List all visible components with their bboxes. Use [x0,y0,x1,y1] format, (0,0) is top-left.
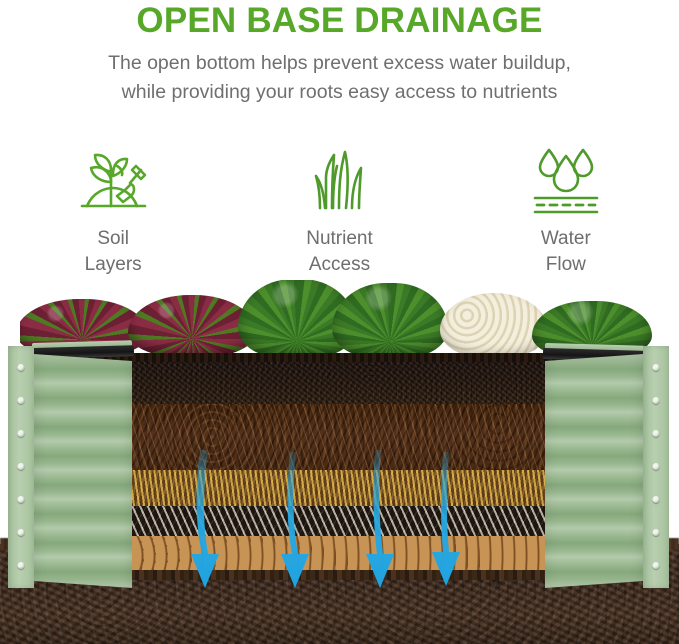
screw-icon [18,496,25,503]
screw-icon [653,430,660,437]
page-title: OPEN BASE DRAINAGE [0,0,679,40]
screw-icon [18,364,25,371]
feature-nutrient-access: Nutrient Access [226,136,452,278]
screw-icon [653,562,660,569]
vegetable-cauliflower [440,293,548,357]
screw-icon [18,430,25,437]
screw-icon [18,463,25,470]
screw-icon [18,529,25,536]
feature-label-nutrient-access: Nutrient Access [306,226,373,278]
grass-blades-icon [299,136,379,214]
feature-label-line-2: Layers [85,252,142,278]
infographic-page: OPEN BASE DRAINAGE The open bottom helps… [0,0,679,644]
vegetable-green-cabbage [332,283,448,357]
feature-label-line-1: Soil [97,228,129,249]
screw-icon [653,463,660,470]
feature-soil-layers: Soil Layers [0,136,226,278]
corner-post-left [8,346,34,588]
vegetable-red-leaf-lettuce [128,295,256,357]
feature-water-flow: Water Flow [453,136,679,278]
feature-label-water-flow: Water Flow [541,226,591,278]
header: OPEN BASE DRAINAGE The open bottom helps… [0,0,679,107]
subtitle-line-1: The open bottom helps prevent excess wat… [108,52,571,74]
feature-label-soil-layers: Soil Layers [85,226,142,278]
feature-label-line-2: Access [306,252,373,278]
screw-icon [653,529,660,536]
bed-panel-left [8,346,132,588]
screw-icon [653,364,660,371]
sprout-shovel-icon [73,136,153,214]
screw-icon [18,397,25,404]
corrugated-panel-left [34,354,132,588]
screw-icon [653,496,660,503]
feature-list: Soil Layers Nutrient Access [0,136,679,278]
screw-icon [18,562,25,569]
subtitle-line-2: while providing your roots easy access t… [40,78,640,107]
feature-label-line-2: Flow [541,252,591,278]
page-subtitle: The open bottom helps prevent excess wat… [40,49,640,107]
feature-label-line-1: Nutrient [306,228,373,249]
water-droplets-icon [523,136,609,214]
garden-bed-illustration [0,280,679,644]
corner-post-right [643,346,669,588]
corrugated-panel-right [545,354,643,588]
bed-panel-right [545,346,671,588]
screw-icon [653,397,660,404]
feature-label-line-1: Water [541,228,591,249]
